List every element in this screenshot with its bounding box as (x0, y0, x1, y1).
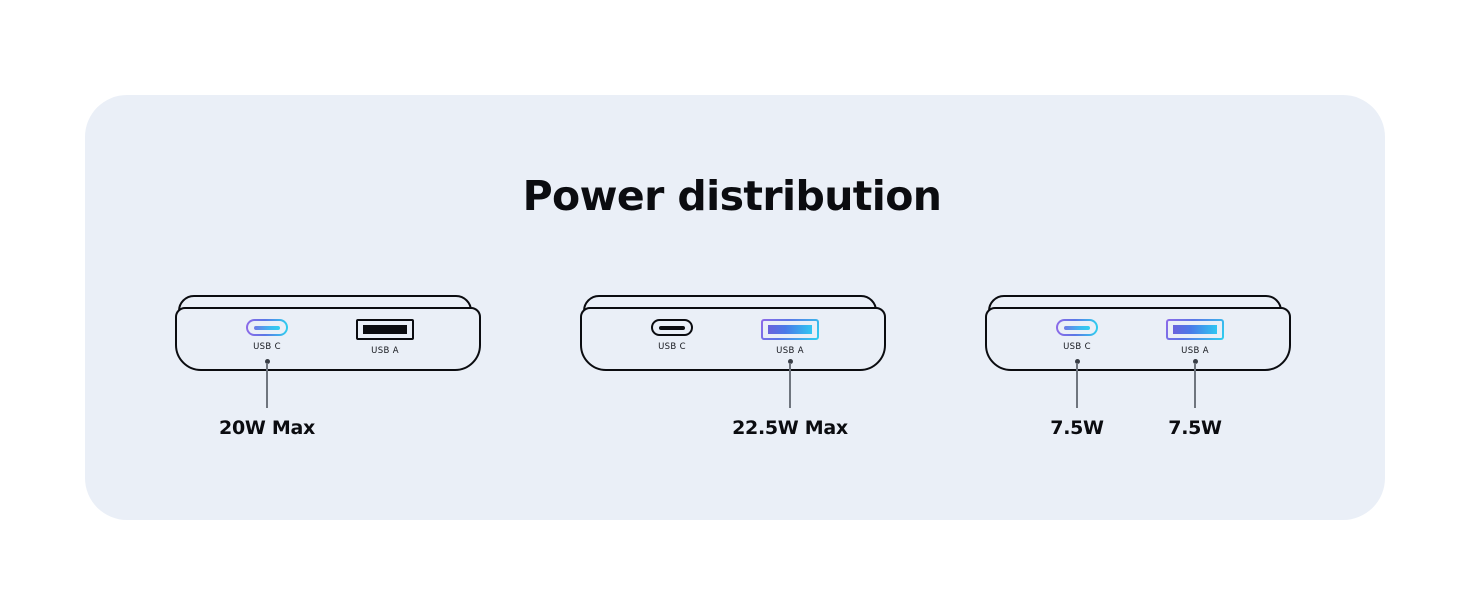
usb-c-port-icon (246, 319, 288, 336)
usb-a-inner-bar (768, 325, 812, 334)
device-3-callout-usb-c: 7.5W (1022, 359, 1132, 439)
usb-c-port-label: USB C (658, 342, 686, 352)
device-3-callout-usb-a: 7.5W (1140, 359, 1250, 439)
usb-c-port-icon (651, 319, 693, 336)
callout-power-value: 20W Max (219, 417, 315, 439)
device-1: USB C USB A 20W Max (175, 295, 481, 440)
usb-c-inner-bar (1064, 326, 1090, 330)
usb-a-port-label: USB A (1181, 346, 1209, 356)
device-1-port-usb-a[interactable]: USB A (330, 319, 440, 363)
device-3-port-usb-c[interactable]: USB C (1022, 319, 1132, 363)
callout-leader-line (266, 363, 268, 408)
usb-c-port-label: USB C (253, 342, 281, 352)
callout-leader-line (1194, 363, 1196, 408)
usb-a-inner-bar (1173, 325, 1217, 334)
usb-a-port-icon (1166, 319, 1224, 340)
device-1-callout-usb-c: 20W Max (212, 359, 322, 439)
usb-c-inner-bar (254, 326, 280, 330)
device-3-port-usb-a[interactable]: USB A (1140, 319, 1250, 363)
diagram-canvas: Power distribution USB C USB A 20W Max (0, 0, 1464, 600)
callout-leader-line (789, 363, 791, 408)
usb-c-inner-bar (659, 326, 685, 330)
usb-a-port-label: USB A (371, 346, 399, 356)
usb-a-port-icon (761, 319, 819, 340)
device-1-port-usb-c[interactable]: USB C (212, 319, 322, 363)
usb-a-port-label: USB A (776, 346, 804, 356)
page-title: Power distribution (0, 168, 1464, 224)
usb-a-inner-bar (363, 325, 407, 334)
usb-c-port-icon (1056, 319, 1098, 336)
device-2-callout-usb-a: 22.5W Max (735, 359, 845, 439)
callout-leader-line (1076, 363, 1078, 408)
device-3: USB C USB A 7.5W 7.5W (985, 295, 1291, 440)
device-2-port-usb-a[interactable]: USB A (735, 319, 845, 363)
device-2: USB C USB A 22.5W Max (580, 295, 886, 440)
usb-a-port-icon (356, 319, 414, 340)
callout-power-value: 7.5W (1168, 417, 1221, 439)
device-2-port-usb-c[interactable]: USB C (617, 319, 727, 363)
callout-power-value: 7.5W (1050, 417, 1103, 439)
usb-c-port-label: USB C (1063, 342, 1091, 352)
callout-power-value: 22.5W Max (732, 417, 848, 439)
